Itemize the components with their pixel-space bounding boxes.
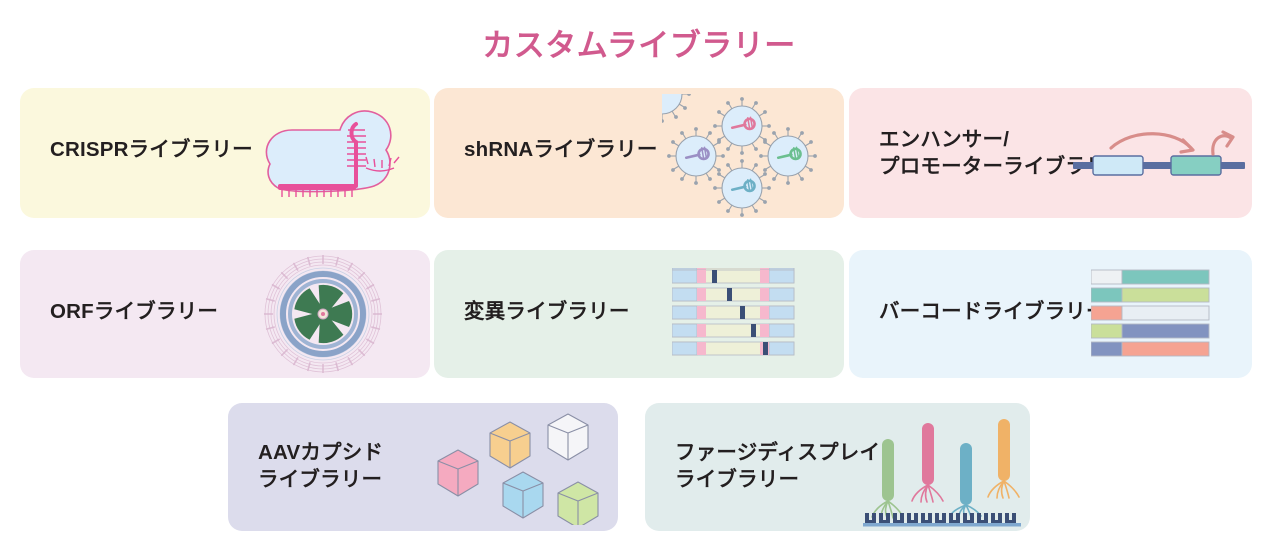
aav-capsid-icosahedra-icon — [428, 413, 613, 530]
cas9-grna-complex-icon — [248, 102, 408, 217]
card-shrna-library[interactable]: shRNAライブラリー — [434, 88, 844, 218]
card-phage-display-label: ファージディスプレイ ライブラリー — [675, 439, 880, 493]
custom-library-infographic: カスタムライブラリー CRISPRライブラリー — [0, 0, 1278, 549]
card-crispr-label: CRISPRライブラリー — [50, 136, 253, 163]
page-title: カスタムライブラリー — [0, 20, 1278, 65]
card-enhancer-promoter-label: エンハンサー/ プロモーターライブラリー — [879, 126, 1127, 180]
barcode-bars-icon — [1091, 268, 1216, 368]
card-aav-capsid-label: AAVカプシド ライブラリー — [258, 439, 383, 493]
card-phage-display-library[interactable]: ファージディスプレイ ライブラリー — [645, 403, 1030, 531]
card-orf-library[interactable]: ORFライブラリー — [20, 250, 430, 378]
card-mutation-label: 変異ライブラリー — [464, 298, 630, 325]
card-shrna-label: shRNAライブラリー — [464, 136, 658, 163]
card-crispr-library[interactable]: CRISPRライブラリー — [20, 88, 430, 218]
card-enhancer-promoter-library[interactable]: エンハンサー/ プロモーターライブラリー — [849, 88, 1252, 218]
radial-plasmid-map-icon — [258, 252, 388, 381]
phage-display-icon — [863, 417, 1023, 532]
viral-particles-shrna-icon — [662, 94, 822, 224]
card-mutation-library[interactable]: 変異ライブラリー — [434, 250, 844, 378]
mutation-constructs-icon — [672, 268, 802, 368]
card-barcode-label: バーコードライブラリー — [879, 298, 1107, 325]
card-aav-capsid-library[interactable]: AAVカプシド ライブラリー — [228, 403, 618, 531]
card-orf-label: ORFライブラリー — [50, 298, 218, 325]
card-barcode-library[interactable]: バーコードライブラリー — [849, 250, 1252, 378]
